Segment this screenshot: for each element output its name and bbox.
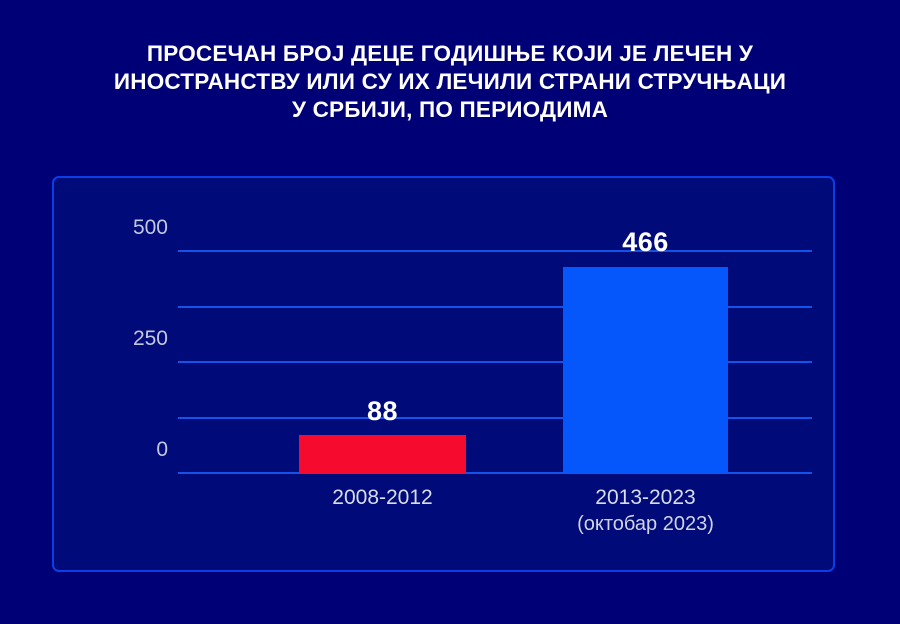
bar-value-2008-2012: 88 bbox=[299, 396, 466, 427]
y-tick-label-0: 0 bbox=[156, 438, 168, 462]
x-tick-2008-2012: 2008-2012 bbox=[299, 484, 466, 511]
x-tick-sublabel-2013-2023: (октобар 2023) bbox=[563, 511, 728, 538]
y-tick-label-250: 250 bbox=[133, 327, 168, 351]
x-tick-label-2013-2023: 2013-2023 bbox=[595, 486, 695, 509]
plot-area: 500 250 0 88 466 2008-2012 2013-2023 (ок… bbox=[178, 252, 812, 474]
chart-title: ПРОСЕЧАН БРОЈ ДЕЦЕ ГОДИШЊЕ КОЈИ ЈЕ ЛЕЧЕН… bbox=[60, 40, 840, 124]
x-tick-2013-2023: 2013-2023 (октобар 2023) bbox=[563, 484, 728, 538]
bar-2013-2023[interactable]: 466 bbox=[563, 267, 728, 474]
bar-value-2013-2023: 466 bbox=[563, 227, 728, 258]
y-tick-label-500: 500 bbox=[133, 216, 168, 240]
infographic-canvas: ПРОСЕЧАН БРОЈ ДЕЦЕ ГОДИШЊЕ КОЈИ ЈЕ ЛЕЧЕН… bbox=[0, 0, 900, 624]
bar-2008-2012[interactable]: 88 bbox=[299, 435, 466, 474]
x-tick-label-2008-2012: 2008-2012 bbox=[332, 486, 432, 509]
chart-panel: 500 250 0 88 466 2008-2012 2013-2023 (ок… bbox=[52, 176, 835, 572]
